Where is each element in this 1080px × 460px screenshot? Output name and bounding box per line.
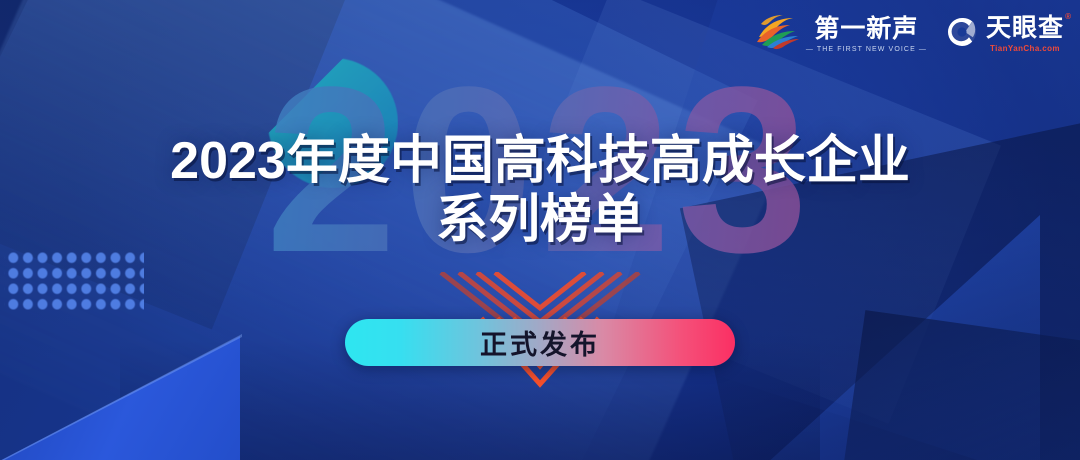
logo-bar: 第一新声 — THE FIRST NEW VOICE — 天眼查 ® TianY…: [755, 14, 1064, 55]
dot-grid-pattern: [4, 248, 144, 310]
title-line-2: 系列榜单: [0, 191, 1080, 250]
background-facet-right-1: [607, 0, 1080, 460]
background-facet-bottom-left-triangle: [0, 336, 240, 460]
background-facet-top-left-band: [0, 0, 786, 460]
title-line-1: 2023年度中国高科技高成长企业: [0, 132, 1080, 191]
background-facet-teal-arc: [268, 58, 398, 188]
eye-aperture-logo-icon: [945, 15, 979, 54]
logo-tianyancha-cn: 天眼查 ®: [986, 16, 1064, 41]
logo-diyixinsheng-tagline: — THE FIRST NEW VOICE —: [806, 46, 927, 53]
official-release-button-label: 正式发布: [480, 323, 600, 362]
background-facet-right-3: [710, 215, 1040, 460]
logo-tianyancha-domain: TianYanCha.com: [990, 44, 1060, 53]
logo-diyixinsheng-cn: 第一新声: [814, 17, 918, 42]
year-watermark: 2023: [0, 52, 1080, 288]
official-release-button[interactable]: 正式发布: [345, 319, 735, 366]
logo-tianyancha[interactable]: 天眼查 ® TianYanCha.com: [945, 15, 1064, 54]
background-facet-right-4: [838, 310, 1080, 460]
page-title: 2023年度中国高科技高成长企业 系列榜单: [0, 132, 1080, 250]
logo-tianyancha-cn-text: 天眼查: [986, 14, 1064, 42]
trademark-icon: ®: [1065, 13, 1072, 21]
background-facet-right-2: [680, 121, 1080, 460]
background-facet-bottom-left-edge: [0, 334, 242, 460]
logo-diyixinsheng[interactable]: 第一新声 — THE FIRST NEW VOICE —: [755, 14, 927, 55]
background-facet-top-left-band-2: [0, 0, 758, 460]
ribbon-swirl-logo-icon: [755, 14, 799, 55]
promo-banner: 2023 2023年度中国高科技高成长企业 系列榜单 正式发布: [0, 0, 1080, 460]
